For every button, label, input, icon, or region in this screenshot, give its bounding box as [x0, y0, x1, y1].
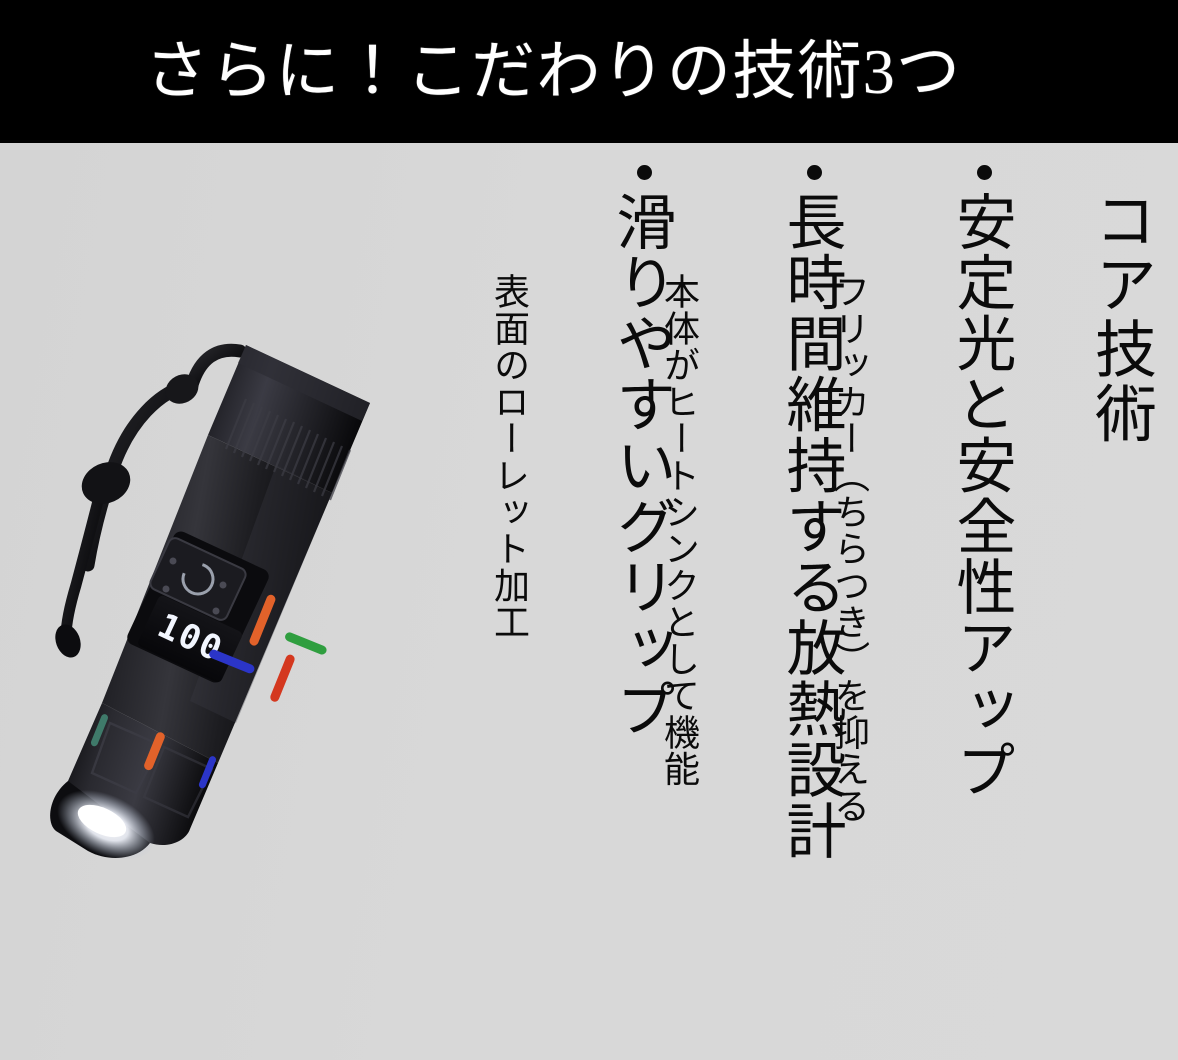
feature-heading-3: 滑りやすいグリップ — [608, 191, 672, 739]
header-band: さらに！こだわりの技術3つ — [0, 0, 1178, 143]
flashlight-illustration: 100 — [40, 293, 400, 1033]
feature-heading-1: 安定光と安全性アップ — [948, 191, 1012, 800]
product-image: 100 — [40, 293, 400, 1033]
bullet-dot-3 — [637, 165, 652, 180]
section-title: コア技術 — [1085, 188, 1152, 446]
cord-tip — [51, 621, 85, 661]
feature-heading-2: 長時間維持する放熱設計 — [778, 191, 842, 861]
product-feature-graphic: さらに！こだわりの技術3つ — [0, 0, 1178, 1060]
cord-lock-lower — [75, 455, 137, 512]
bullet-dot-2 — [807, 165, 822, 180]
accent-green-right — [284, 631, 328, 656]
header-title: さらに！こだわりの技術3つ — [145, 40, 1034, 104]
main-content-area: 100 — [0, 143, 1178, 1060]
feature-detail-3: 表面のローレット加工 — [488, 273, 528, 640]
accent-red-bottom — [269, 653, 296, 703]
bullet-dot-1 — [977, 165, 992, 180]
